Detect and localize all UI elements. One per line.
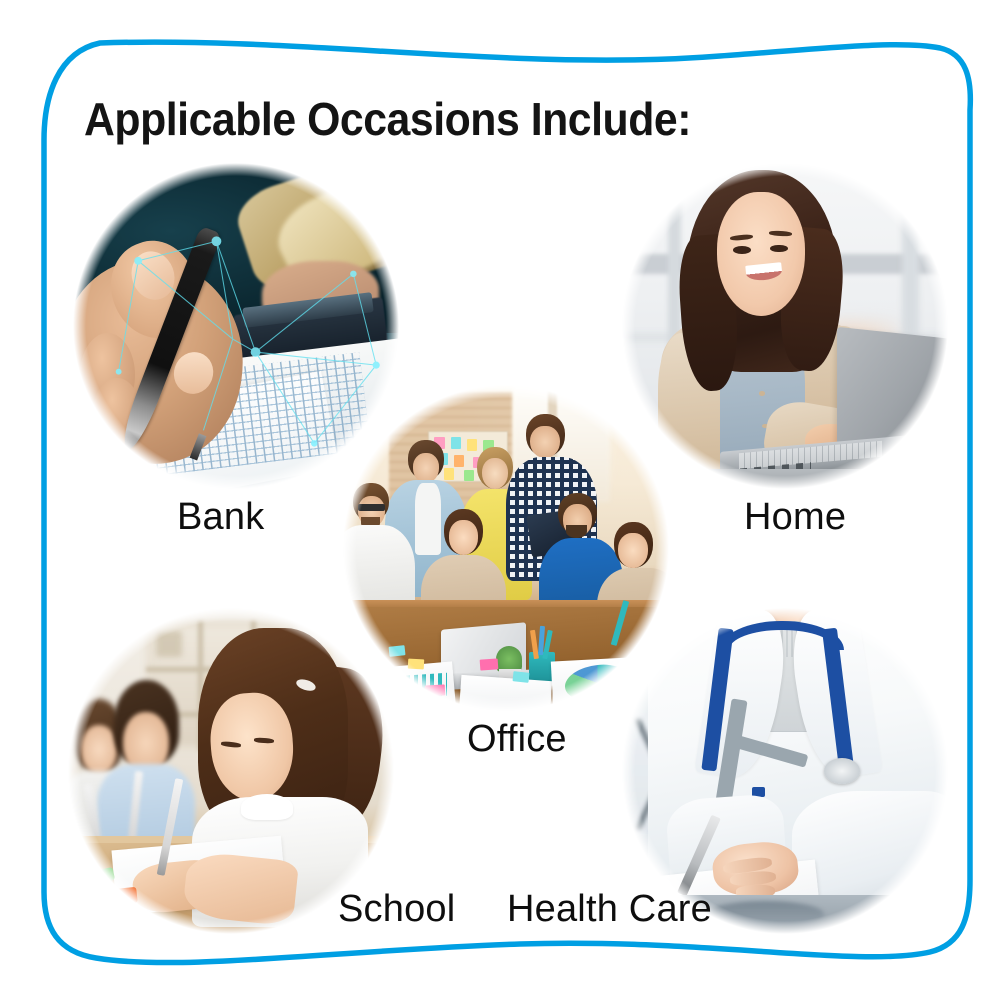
occasion-healthcare[interactable]: Health Care — [622, 608, 948, 934]
healthcare-photo — [622, 608, 948, 934]
page-title: Applicable Occasions Include: — [84, 92, 691, 146]
occasion-label-office: Office — [467, 718, 567, 761]
infographic-canvas: Applicable Occasions Include: — [0, 0, 1000, 1000]
school-photo — [68, 608, 394, 934]
occasion-label-home: Home — [744, 496, 846, 539]
occasion-label-bank: Bank — [177, 496, 264, 539]
occasion-label-school: School — [338, 888, 455, 931]
occasion-label-healthcare: Health Care — [507, 888, 712, 931]
occasion-school[interactable]: School — [68, 608, 394, 934]
occasion-home[interactable]: Home — [622, 163, 948, 489]
home-photo — [622, 163, 948, 489]
